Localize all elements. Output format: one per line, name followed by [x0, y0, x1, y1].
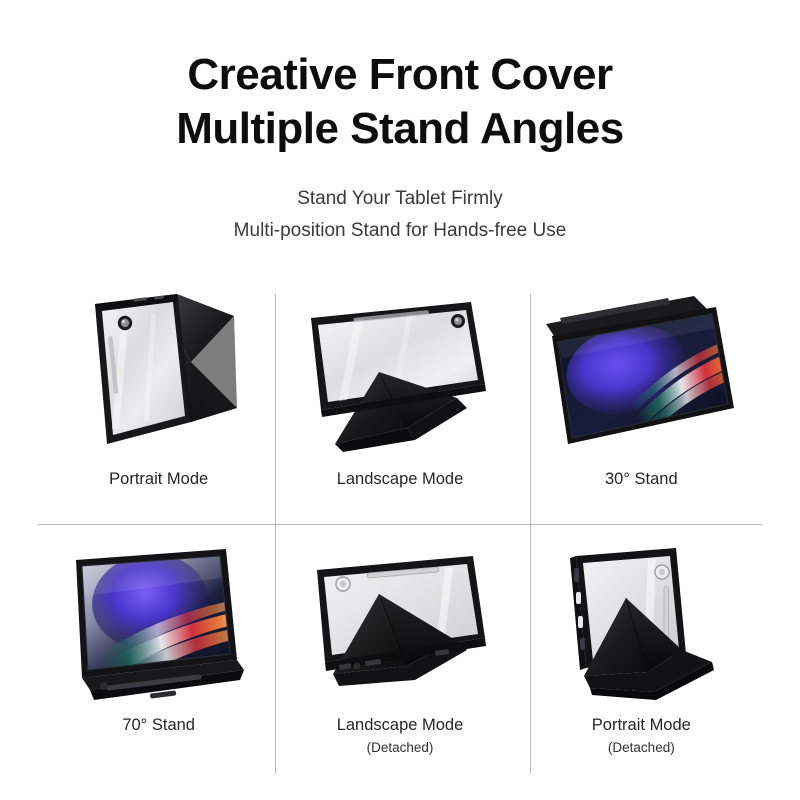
caption-text: Landscape Mode — [337, 716, 464, 734]
camera-glint-icon — [122, 320, 125, 323]
caption-text: Landscape Mode — [337, 470, 464, 488]
caption-landscape-detached: Landscape Mode (Detached) — [337, 714, 464, 757]
button-cutout-4 — [580, 638, 585, 650]
page-header: Creative Front Cover Multiple Stand Angl… — [0, 0, 800, 246]
product-feature-page: Creative Front Cover Multiple Stand Angl… — [0, 0, 800, 800]
page-title: Creative Front Cover Multiple Stand Angl… — [0, 48, 800, 155]
camera-glint-icon — [455, 318, 458, 321]
tablet-back-landscape-illustration — [295, 288, 505, 464]
tablet-screen-high-angle-illustration — [54, 534, 264, 710]
button-cutout-1 — [574, 568, 579, 582]
feature-grid: Portrait Mode — [38, 288, 762, 780]
caption-text: Portrait Mode — [592, 716, 691, 734]
grid-cell-stand-30: 30° Stand — [521, 288, 762, 534]
product-image-landscape-detached — [279, 534, 520, 710]
port-cutout — [100, 682, 108, 690]
tablet-back-portrait-illustration — [59, 288, 259, 464]
tablet-screen-low-angle-illustration — [536, 288, 746, 464]
shell-landscape-stand-illustration — [295, 534, 505, 710]
camera-lens-icon — [454, 317, 462, 325]
page-title-line-2: Multiple Stand Angles — [0, 102, 800, 156]
port-cutout — [354, 663, 361, 670]
product-image-portrait-mode — [38, 288, 279, 464]
caption-landscape-mode: Landscape Mode — [337, 468, 464, 490]
button-cutout-3 — [578, 616, 583, 628]
caption-stand-70: 70° Stand — [122, 714, 195, 736]
camera-lens-icon — [120, 319, 128, 327]
grid-cell-portrait-mode: Portrait Mode — [38, 288, 279, 534]
page-subtitle-line-1: Stand Your Tablet Firmly — [0, 183, 800, 214]
shell-portrait-stand-illustration — [536, 534, 746, 710]
camera-lens-icon — [340, 581, 346, 587]
product-image-landscape-mode — [279, 288, 520, 464]
caption-subtext: (Detached) — [337, 739, 464, 757]
grid-cell-portrait-detached: Portrait Mode (Detached) — [521, 534, 762, 780]
grid-cell-stand-70: 70° Stand — [38, 534, 279, 780]
caption-text: 70° Stand — [122, 716, 195, 734]
page-subtitle: Stand Your Tablet Firmly Multi-position … — [0, 183, 800, 246]
product-image-portrait-detached — [521, 534, 762, 710]
grid-cell-landscape-mode: Landscape Mode — [279, 288, 520, 534]
caption-text: Portrait Mode — [109, 470, 208, 488]
camera-lens-icon — [659, 569, 665, 575]
product-image-stand-30 — [521, 288, 762, 464]
button-cutout-2 — [576, 592, 581, 604]
caption-text: 30° Stand — [605, 470, 678, 488]
product-image-stand-70 — [38, 534, 279, 710]
page-title-line-1: Creative Front Cover — [0, 48, 800, 102]
caption-portrait-detached: Portrait Mode (Detached) — [592, 714, 691, 757]
caption-portrait-mode: Portrait Mode — [109, 468, 208, 490]
grid-cell-landscape-detached: Landscape Mode (Detached) — [279, 534, 520, 780]
caption-subtext: (Detached) — [592, 739, 691, 757]
page-subtitle-line-2: Multi-position Stand for Hands-free Use — [0, 215, 800, 246]
caption-stand-30: 30° Stand — [605, 468, 678, 490]
pen-slot — [664, 586, 669, 640]
